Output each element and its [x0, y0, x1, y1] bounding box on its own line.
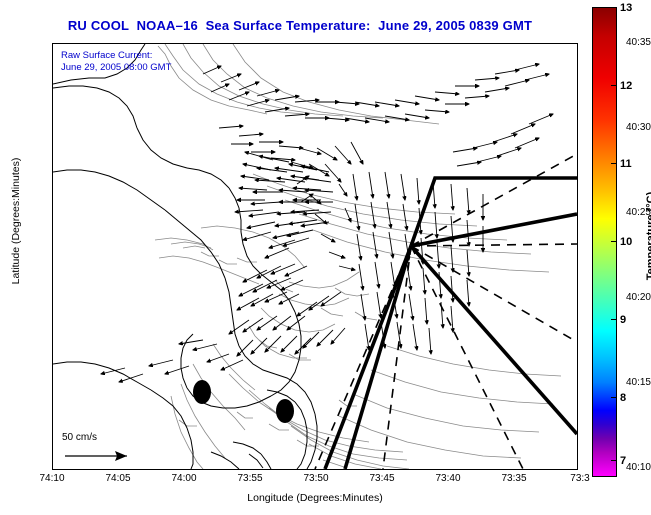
colorbar[interactable] [592, 7, 617, 477]
x-tick-4: 73:50 [286, 473, 346, 484]
bathymetry-contours [155, 44, 561, 469]
figure-title: RU COOL NOAA–16 Sea Surface Temperature:… [0, 18, 600, 33]
y-axis-label: Latitude (Degrees:Minutes) [10, 121, 22, 321]
x-tick-2: 74:00 [154, 473, 214, 484]
colorbar-mark-12 [611, 85, 617, 86]
dashed-radar-beams [315, 154, 577, 469]
station-marker-east[interactable] [276, 399, 294, 423]
colorbar-tick-13: 13 [620, 2, 632, 14]
colorbar-mark-7 [611, 460, 617, 461]
colorbar-mark-8 [611, 397, 617, 398]
colorbar-tick-12: 12 [620, 80, 632, 92]
x-tick-0: 74:10 [22, 473, 82, 484]
colorbar-mark-9 [611, 319, 617, 320]
vector-scale-label: 50 cm/s [62, 432, 97, 443]
x-tick-7: 73:35 [484, 473, 544, 484]
colorbar-tick-10: 10 [620, 236, 632, 248]
colorbar-tick-7: 7 [620, 455, 626, 467]
colorbar-mark-11 [611, 163, 617, 164]
figure-root: RU COOL NOAA–16 Sea Surface Temperature:… [0, 0, 651, 515]
colorbar-mark-10 [611, 241, 617, 242]
annotation-line-1: Raw Surface Current: [61, 50, 152, 62]
annotation-line-2: June 29, 2005 08:00 GMT [61, 62, 171, 74]
x-tick-5: 73:45 [352, 473, 412, 484]
vector-scale-arrow [65, 451, 127, 461]
x-tick-3: 73:55 [220, 473, 280, 484]
station-marker-west[interactable] [193, 380, 211, 404]
colorbar-tick-9: 9 [620, 314, 626, 326]
x-axis-label: Longitude (Degrees:Minutes) [52, 492, 578, 504]
map-plot-area[interactable]: Raw Surface Current: June 29, 2005 08:00… [52, 43, 578, 470]
colorbar-tick-8: 8 [620, 392, 626, 404]
x-tick-6: 73:40 [418, 473, 478, 484]
x-tick-1: 74:05 [88, 473, 148, 484]
map-canvas [53, 44, 577, 469]
colorbar-tick-11: 11 [620, 158, 632, 170]
colorbar-label: Temperature (°C) [645, 151, 651, 321]
